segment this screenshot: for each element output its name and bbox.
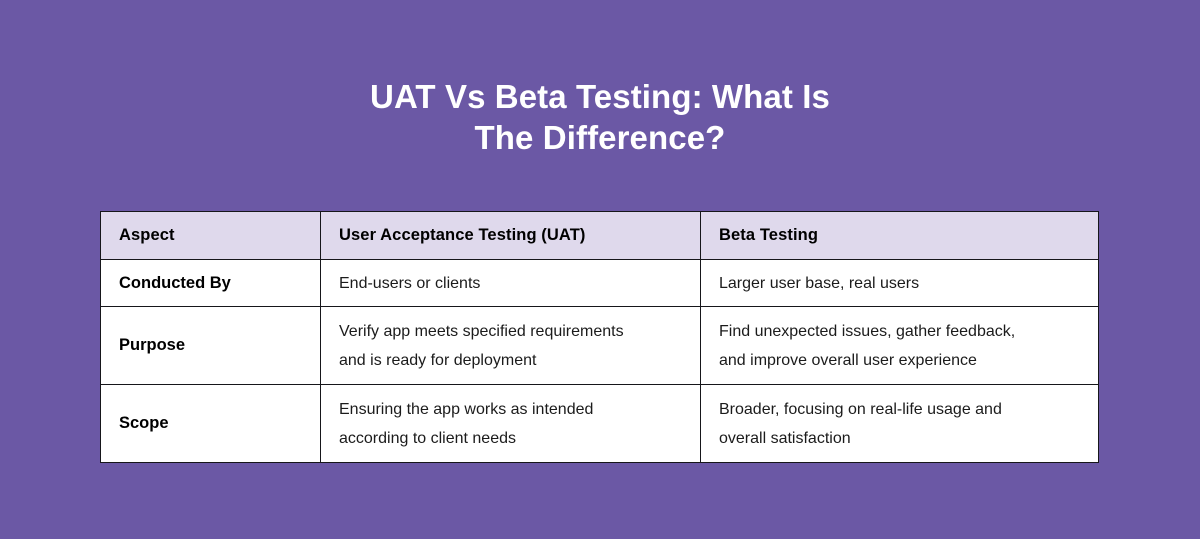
infographic-page: UAT Vs Beta Testing: What Is The Differe… <box>0 0 1200 539</box>
cell-beta-line-1: Find unexpected issues, gather feedback, <box>719 317 1080 346</box>
table-row: Conducted By End-users or clients Larger… <box>101 260 1099 307</box>
cell-beta-line-2: and improve overall user experience <box>719 346 1080 375</box>
cell-beta-line-2: overall satisfaction <box>719 424 1080 453</box>
cell-uat-line-1: Verify app meets specified requirements <box>339 317 682 346</box>
cell-beta-line-1: Broader, focusing on real-life usage and <box>719 395 1080 424</box>
cell-aspect: Conducted By <box>101 260 321 307</box>
cell-uat-line-2: according to client needs <box>339 424 682 453</box>
cell-beta-line-1: Larger user base, real users <box>719 269 1080 298</box>
table-header: Aspect User Acceptance Testing (UAT) Bet… <box>101 212 1099 260</box>
cell-uat: Ensuring the app works as intended accor… <box>321 385 701 463</box>
page-title-line-1: UAT Vs Beta Testing: What Is <box>0 76 1200 117</box>
cell-uat-line-2: and is ready for deployment <box>339 346 682 375</box>
column-header-aspect: Aspect <box>101 212 321 260</box>
table-row: Scope Ensuring the app works as intended… <box>101 385 1099 463</box>
table-row: Purpose Verify app meets specified requi… <box>101 307 1099 385</box>
cell-beta: Larger user base, real users <box>701 260 1099 307</box>
cell-uat-line-1: Ensuring the app works as intended <box>339 395 682 424</box>
cell-beta: Broader, focusing on real-life usage and… <box>701 385 1099 463</box>
cell-aspect: Purpose <box>101 307 321 385</box>
cell-aspect: Scope <box>101 385 321 463</box>
comparison-table: Aspect User Acceptance Testing (UAT) Bet… <box>100 211 1099 463</box>
page-title-line-2: The Difference? <box>0 117 1200 158</box>
cell-uat-line-1: End-users or clients <box>339 269 682 298</box>
cell-uat: Verify app meets specified requirements … <box>321 307 701 385</box>
table-body: Conducted By End-users or clients Larger… <box>101 260 1099 463</box>
cell-beta: Find unexpected issues, gather feedback,… <box>701 307 1099 385</box>
cell-uat: End-users or clients <box>321 260 701 307</box>
column-header-uat: User Acceptance Testing (UAT) <box>321 212 701 260</box>
page-title: UAT Vs Beta Testing: What Is The Differe… <box>0 76 1200 158</box>
column-header-beta: Beta Testing <box>701 212 1099 260</box>
table-header-row: Aspect User Acceptance Testing (UAT) Bet… <box>101 212 1099 260</box>
